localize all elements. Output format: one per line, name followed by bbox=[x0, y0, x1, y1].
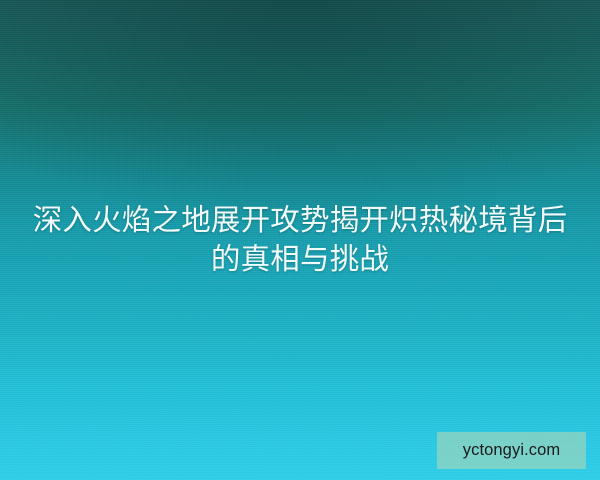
watermark-label: yctongyi.com bbox=[463, 442, 561, 459]
watermark-badge: yctongyi.com bbox=[437, 432, 586, 469]
title-block: 深入火焰之地展开攻势揭开炽热秘境背后 的真相与挑战 bbox=[0, 201, 600, 279]
cover-image: 深入火焰之地展开攻势揭开炽热秘境背后 的真相与挑战 yctongyi.com bbox=[0, 0, 600, 480]
page-title: 深入火焰之地展开攻势揭开炽热秘境背后 的真相与挑战 bbox=[16, 201, 584, 279]
